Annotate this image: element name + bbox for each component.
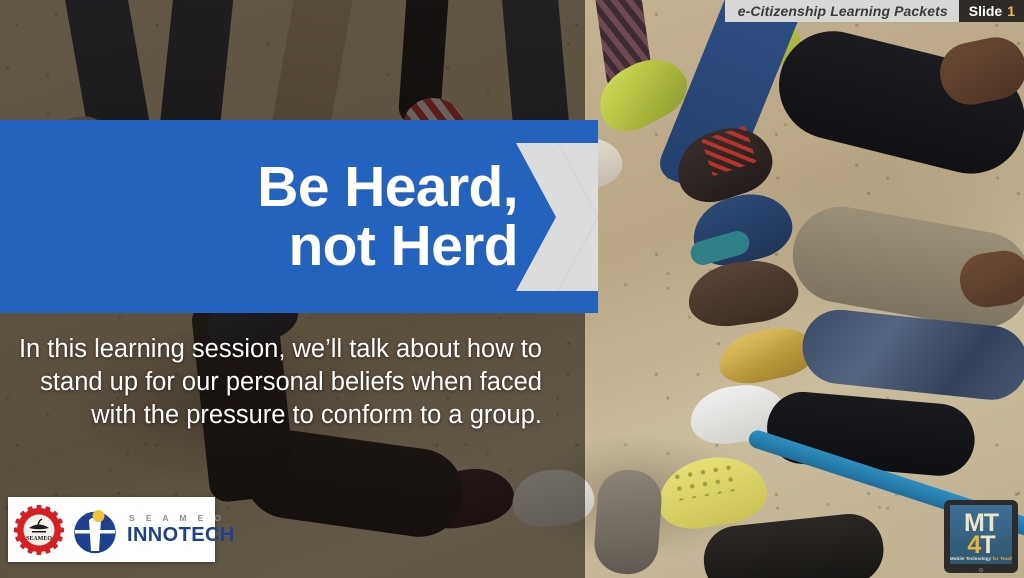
slide-word-label: Slide — [969, 3, 1002, 19]
mt4t-home-button-icon — [979, 568, 983, 572]
title-text-block: Be Heard, not Herd — [0, 120, 524, 313]
seameo-gear-icon: SEAMEO — [14, 505, 64, 555]
slide-number-value: 1 — [1007, 3, 1015, 19]
title-line-1: Be Heard, — [257, 158, 518, 217]
seameo-innotech-logo-lockup: SEAMEO S E A M E O INNOTECH — [8, 497, 215, 562]
title-line-2: not Herd — [288, 217, 518, 276]
subtitle-text: In this learning session, we’ll talk abo… — [18, 333, 542, 432]
mt4t-tagline-accent: for Teachers — [992, 556, 1012, 561]
mt4t-screen-panel: M T 4 T Mobile Technology for Teachers — [950, 505, 1012, 564]
seameo-gear-wordmark: SEAMEO — [26, 536, 52, 542]
slide-canvas: e-Citizenship Learning Packets Slide 1 B… — [0, 0, 1024, 578]
innotech-line-bottom: INNOTECH — [127, 525, 235, 545]
innotech-line-top: S E A M E O — [129, 514, 235, 523]
mt4t-letter-t2: T — [980, 535, 994, 557]
mt4t-tagline-plain: Mobile Technology — [950, 556, 992, 561]
innotech-wordmark: S E A M E O INNOTECH — [127, 514, 235, 545]
slide-number-badge: Slide 1 — [959, 0, 1024, 22]
chevron-right-icon — [516, 143, 598, 291]
mt4t-letter-4: 4 — [967, 535, 980, 557]
mt4t-logo: M T 4 T Mobile Technology for Teachers — [944, 500, 1018, 573]
slide-header-bar: e-Citizenship Learning Packets Slide 1 — [725, 0, 1024, 22]
innotech-globe-icon — [70, 505, 120, 555]
title-banner: Be Heard, not Herd — [0, 120, 598, 313]
mt4t-line-2: 4 T — [967, 535, 994, 557]
packet-title-label: e-Citizenship Learning Packets — [725, 0, 959, 22]
mt4t-tagline: Mobile Technology for Teachers — [950, 556, 1012, 561]
shoe-grey-hiking-boot — [592, 468, 663, 576]
